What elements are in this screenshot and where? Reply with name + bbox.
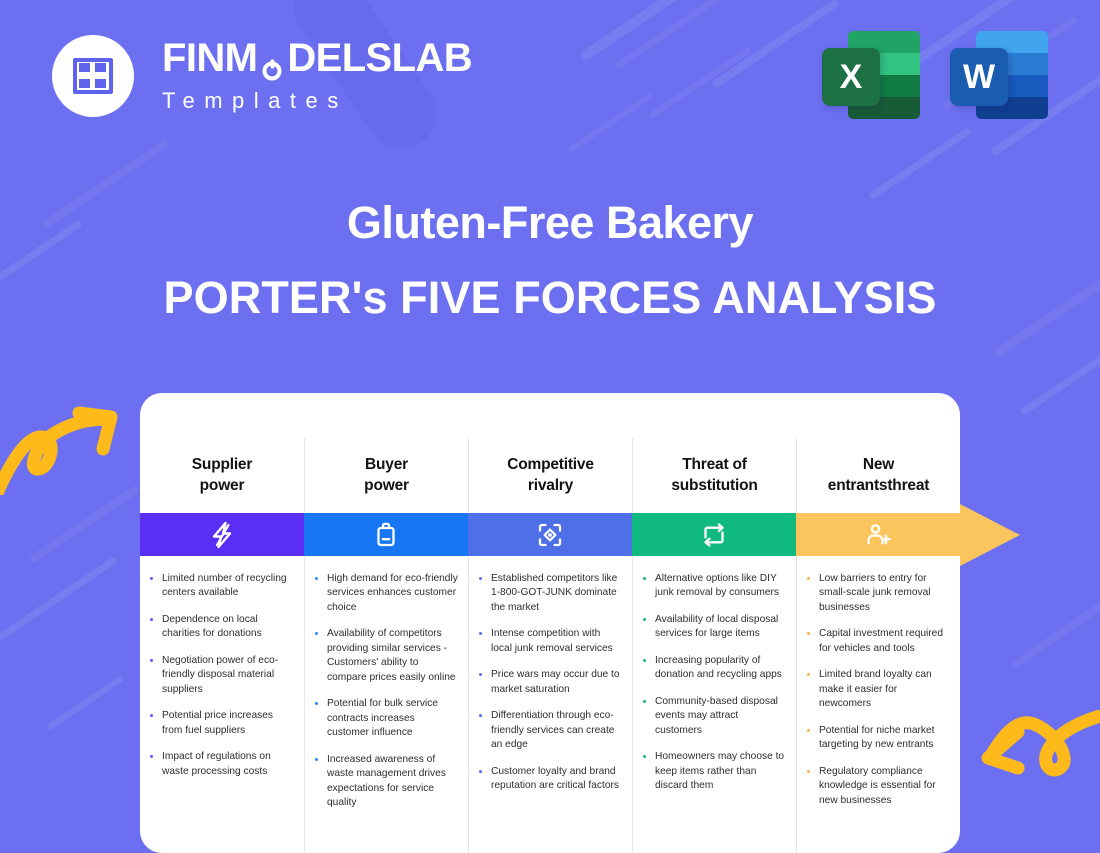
excel-letter: X [822, 48, 880, 106]
column-header-new-entrants-threat: New entrantsthreat [796, 438, 960, 513]
list-item: Potential for bulk service contracts inc… [313, 697, 458, 740]
bullet-list-new-entrants-threat: Low barriers to entry for small-scale ju… [805, 572, 950, 808]
column-title-line1: Supplier [192, 456, 252, 473]
column-title-line2: entrantsthreat [828, 477, 929, 494]
force-column-buyer-power: Buyer power High demand for eco-friendly… [304, 393, 468, 853]
list-item: Low barriers to entry for small-scale ju… [805, 572, 950, 615]
column-body-competitive-rivalry: Established competitors like 1-800-GOT-J… [468, 556, 632, 853]
column-bar-new-entrants-threat [796, 513, 960, 556]
column-bar-threat-of-substitution [632, 513, 796, 556]
list-item: Established competitors like 1-800-GOT-J… [477, 572, 622, 615]
column-title-line1: Buyer [365, 456, 408, 473]
brand-logo[interactable]: FINMDELSLAB Templates [52, 35, 472, 117]
column-body-threat-of-substitution: Alternative options like DIY junk remova… [632, 556, 796, 853]
page-header: FINMDELSLAB Templates X W [0, 0, 1100, 150]
grid-squares-icon [73, 58, 113, 94]
force-column-threat-of-substitution: Threat of substitution Alternative optio… [632, 393, 796, 853]
list-item: Availability of competitors providing si… [313, 627, 458, 685]
column-title-line2: power [200, 477, 245, 494]
user-plus-icon [864, 521, 892, 549]
title-block: Gluten-Free Bakery PORTER's FIVE FORCES … [0, 196, 1100, 326]
column-bar-competitive-rivalry [468, 513, 632, 556]
list-item: Limited brand loyalty can make it easier… [805, 668, 950, 711]
word-icon[interactable]: W [950, 28, 1048, 120]
column-body-new-entrants-threat: Low barriers to entry for small-scale ju… [796, 556, 960, 853]
list-item: Alternative options like DIY junk remova… [641, 572, 786, 601]
bullet-list-competitive-rivalry: Established competitors like 1-800-GOT-J… [477, 572, 622, 794]
column-title-line1: Threat of [682, 456, 747, 473]
bullet-list-buyer-power: High demand for eco-friendly services en… [313, 572, 458, 811]
list-item: Availability of local disposal services … [641, 613, 786, 642]
list-item: Differentiation through eco-friendly ser… [477, 709, 622, 752]
list-item: Dependence on local charities for donati… [148, 613, 294, 642]
force-column-competitive-rivalry: Competitive rivalry Established competit… [468, 393, 632, 853]
list-item: Customer loyalty and brand reputation ar… [477, 765, 622, 794]
list-item: High demand for eco-friendly services en… [313, 572, 458, 615]
excel-icon[interactable]: X [822, 28, 920, 120]
list-item: Regulatory compliance knowledge is essen… [805, 765, 950, 808]
column-title-line2: rivalry [528, 477, 573, 494]
brand-name: FINMDELSLAB [162, 38, 472, 78]
list-item: Impact of regulations on waste processin… [148, 750, 294, 779]
column-body-buyer-power: High demand for eco-friendly services en… [304, 556, 468, 853]
column-title-line1: Competitive [507, 456, 594, 473]
exchange-arrows-icon [699, 522, 729, 548]
bullet-list-threat-of-substitution: Alternative options like DIY junk remova… [641, 572, 786, 794]
focus-target-icon [536, 521, 564, 549]
page-subtitle: PORTER's FIVE FORCES ANALYSIS [0, 271, 1100, 326]
list-item: Community-based disposal events may attr… [641, 695, 786, 738]
logo-badge [52, 35, 134, 117]
lightning-bolt-icon [209, 521, 235, 549]
column-header-supplier-power: Supplier power [140, 438, 304, 513]
column-header-threat-of-substitution: Threat of substitution [632, 438, 796, 513]
list-item: Increased awareness of waste management … [313, 753, 458, 811]
list-item: Negotiation power of eco-friendly dispos… [148, 654, 294, 697]
brand-name-part2: DELSLAB [287, 36, 472, 80]
forces-columns: Supplier power Limited number of recycli… [140, 393, 960, 853]
brand-subtitle: Templates [162, 88, 472, 114]
list-item: Capital investment required for vehicles… [805, 627, 950, 656]
page-title: Gluten-Free Bakery [0, 196, 1100, 251]
list-item: Intense competition with local junk remo… [477, 627, 622, 656]
force-column-new-entrants-threat: New entrantsthreat Low barriers to entry… [796, 393, 960, 853]
bullet-list-supplier-power: Limited number of recycling centers avai… [148, 572, 294, 779]
list-item: Price wars may occur due to market satur… [477, 668, 622, 697]
list-item: Homeowners may choose to keep items rath… [641, 750, 786, 793]
column-title-line2: power [364, 477, 409, 494]
list-item: Potential for niche market targeting by … [805, 724, 950, 753]
column-header-buyer-power: Buyer power [304, 438, 468, 513]
squiggle-arrow-down-left-icon [972, 710, 1100, 805]
list-item: Limited number of recycling centers avai… [148, 572, 294, 601]
force-column-supplier-power: Supplier power Limited number of recycli… [140, 393, 304, 853]
arrow-head-shape [960, 504, 1020, 566]
column-bar-buyer-power [304, 513, 468, 556]
list-item: Potential price increases from fuel supp… [148, 709, 294, 738]
column-body-supplier-power: Limited number of recycling centers avai… [140, 556, 304, 853]
briefcase-icon [373, 521, 399, 549]
squiggle-arrow-up-right-icon [0, 405, 125, 495]
column-header-competitive-rivalry: Competitive rivalry [468, 438, 632, 513]
column-title-line1: New [863, 456, 894, 473]
column-title-line2: substitution [671, 477, 757, 494]
list-item: Increasing popularity of donation and re… [641, 654, 786, 683]
word-letter: W [950, 48, 1008, 106]
column-bar-supplier-power [140, 513, 304, 556]
office-format-icons: X W [822, 28, 1048, 120]
brand-name-part1: FINM [162, 36, 257, 80]
porters-five-forces-card: Supplier power Limited number of recycli… [140, 393, 960, 853]
